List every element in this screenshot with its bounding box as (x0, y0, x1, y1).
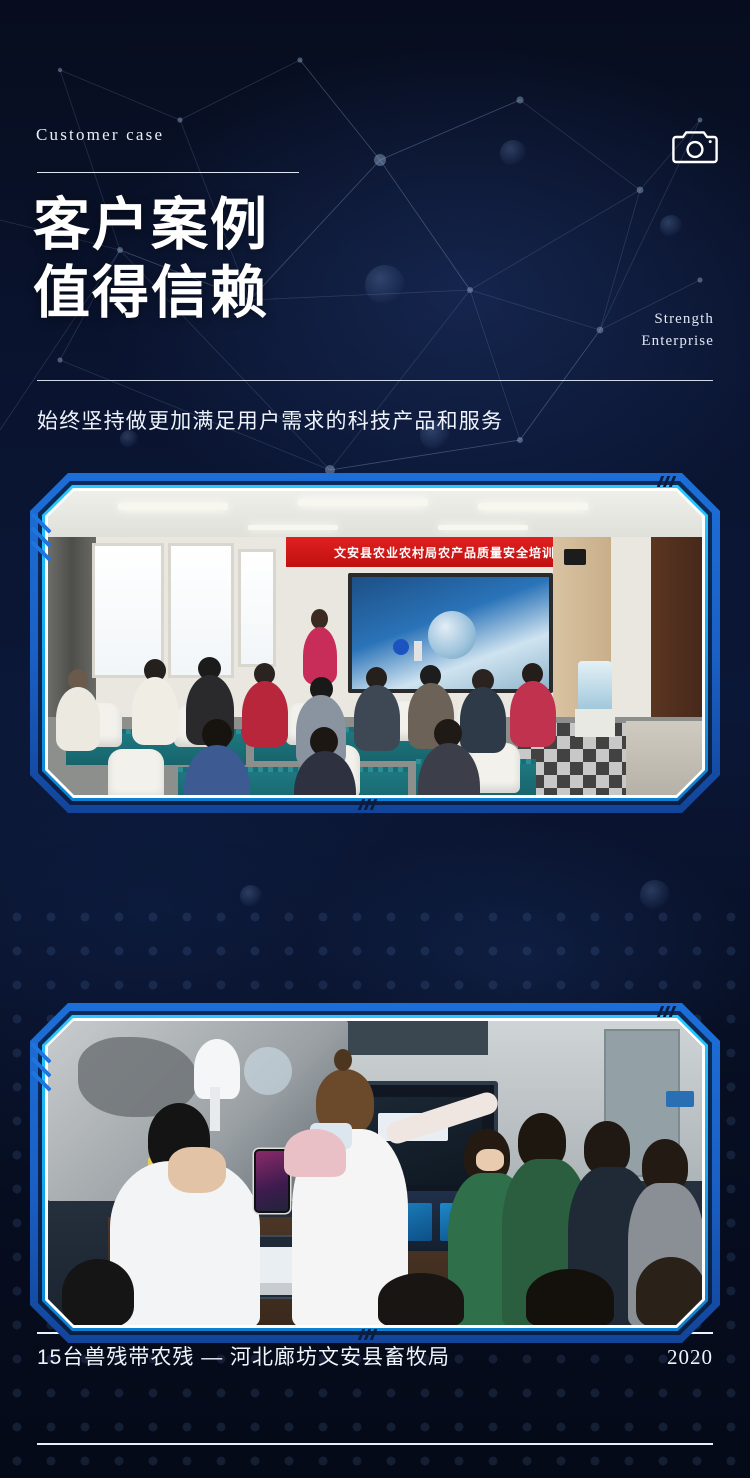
page-title-line-2: 值得信赖 (33, 260, 269, 328)
strength-line-2: Enterprise (544, 330, 714, 352)
bokeh-dot (240, 885, 262, 907)
frame-corner-ticks-bottom-left (360, 799, 375, 810)
training-room-scene: 文安县农业农村局农产品质量安全培训会 (48, 491, 702, 795)
page-header: Customer case 客户案例 值得信赖 Strength Enterpr… (0, 0, 750, 470)
demo-room-scene (48, 1021, 702, 1325)
strength-line-1: Strength (544, 308, 714, 330)
photo-frame-1[interactable]: 文安县农业农村局农产品质量安全培训会 (30, 473, 720, 813)
subtitle-divider (37, 380, 713, 381)
caption-text-1: 15台兽残带农残 — 河北廊坊文安县畜牧局 (37, 1341, 450, 1371)
photo-banner-text-1: 文安县农业农村局农产品质量安全培训会 (334, 544, 568, 561)
case-photo-2 (48, 1021, 702, 1325)
page-subtitle: 始终坚持做更加满足用户需求的科技产品和服务 (37, 405, 503, 435)
bokeh-dot (640, 880, 670, 910)
caption-year-1: 2020 (667, 1345, 713, 1370)
frame-corner-ticks-bottom-left (360, 1329, 375, 1340)
page-title-line-1: 客户案例 (33, 194, 269, 257)
page-title: 客户案例 值得信赖 (33, 192, 269, 328)
bottom-divider (37, 1443, 713, 1445)
frame-corner-ticks-top-right (659, 1006, 674, 1017)
frame-corner-ticks-top-right (659, 476, 674, 487)
eyebrow-label: Customer case (36, 125, 164, 145)
photo-frame-2[interactable] (30, 1003, 720, 1343)
caption-1: 15台兽残带农残 — 河北廊坊文安县畜牧局 2020 (37, 1341, 713, 1371)
strength-enterprise-label: Strength Enterprise (544, 308, 714, 352)
case-photo-1: 文安县农业农村局农产品质量安全培训会 (48, 491, 702, 795)
eyebrow-divider (37, 172, 299, 173)
case-showcase-page: Customer case 客户案例 值得信赖 Strength Enterpr… (0, 0, 750, 1478)
camera-icon[interactable] (672, 128, 718, 164)
case-item-1: 文安县农业农村局农产品质量安全培训会 (0, 473, 750, 813)
case-item-2: 25台农残仪 — 广西南宁市场监督局 2020 (0, 1003, 750, 1343)
